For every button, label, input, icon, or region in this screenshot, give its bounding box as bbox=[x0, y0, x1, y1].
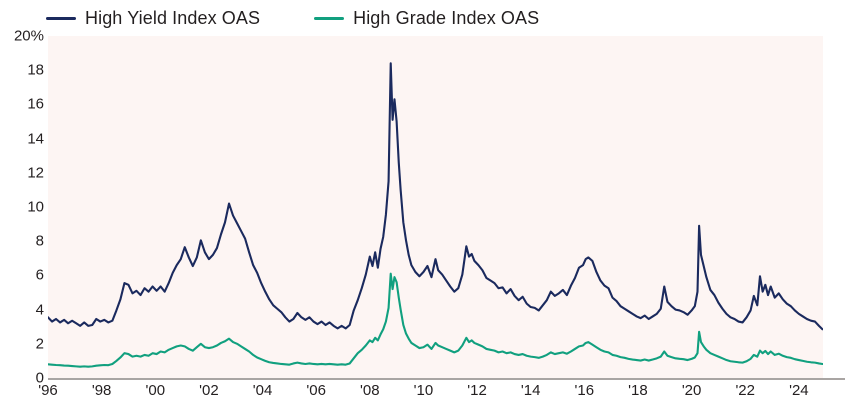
series-line-high-yield bbox=[48, 63, 822, 329]
x-axis-labels: '96'98'00'02'04'06'08'10'12'14'16'18'20'… bbox=[0, 382, 845, 410]
x-axis-tick-label: '04 bbox=[253, 382, 273, 399]
y-axis-tick-label: 18 bbox=[0, 62, 44, 79]
legend-label-high-grade: High Grade Index OAS bbox=[353, 8, 539, 29]
y-axis-tick-label: 12 bbox=[0, 164, 44, 181]
x-axis-tick-label: '18 bbox=[628, 382, 648, 399]
x-axis-tick-label: '96 bbox=[38, 382, 58, 399]
series-line-high-grade bbox=[48, 274, 822, 367]
legend-label-high-yield: High Yield Index OAS bbox=[85, 8, 260, 29]
legend-swatch-high-grade bbox=[314, 17, 344, 20]
x-axis-tick-label: '16 bbox=[575, 382, 595, 399]
legend-swatch-high-yield bbox=[46, 17, 76, 20]
x-axis-tick-label: '10 bbox=[414, 382, 434, 399]
y-axis-tick-label: 14 bbox=[0, 130, 44, 147]
x-axis-tick-label: '22 bbox=[735, 382, 755, 399]
x-axis-line bbox=[48, 378, 845, 380]
oas-spread-chart: High Yield Index OAS High Grade Index OA… bbox=[0, 0, 845, 411]
y-axis-tick-label: 2 bbox=[0, 335, 44, 352]
x-axis-tick-label: '20 bbox=[682, 382, 702, 399]
legend-item-high-yield[interactable]: High Yield Index OAS bbox=[46, 8, 260, 29]
plot-area bbox=[48, 36, 823, 378]
x-axis-tick-label: '02 bbox=[199, 382, 219, 399]
x-axis-tick-label: '98 bbox=[92, 382, 112, 399]
x-axis-tick-label: '14 bbox=[521, 382, 541, 399]
x-axis-tick-label: '08 bbox=[360, 382, 380, 399]
y-axis-tick-label: 6 bbox=[0, 267, 44, 284]
y-axis-labels: 20%181614121086420 bbox=[0, 0, 44, 411]
x-axis-tick-label: '00 bbox=[145, 382, 165, 399]
y-axis-tick-label: 8 bbox=[0, 233, 44, 250]
x-axis-tick-label: '24 bbox=[789, 382, 809, 399]
chart-legend: High Yield Index OAS High Grade Index OA… bbox=[0, 4, 845, 32]
y-axis-tick-label: 4 bbox=[0, 301, 44, 318]
y-axis-tick-label: 10 bbox=[0, 199, 44, 216]
y-axis-tick-label: 16 bbox=[0, 96, 44, 113]
legend-item-high-grade[interactable]: High Grade Index OAS bbox=[314, 8, 539, 29]
plot-svg bbox=[48, 36, 823, 378]
x-axis-tick-label: '06 bbox=[306, 382, 326, 399]
x-axis-tick-label: '12 bbox=[467, 382, 487, 399]
y-axis-tick-label: 20% bbox=[0, 28, 44, 45]
